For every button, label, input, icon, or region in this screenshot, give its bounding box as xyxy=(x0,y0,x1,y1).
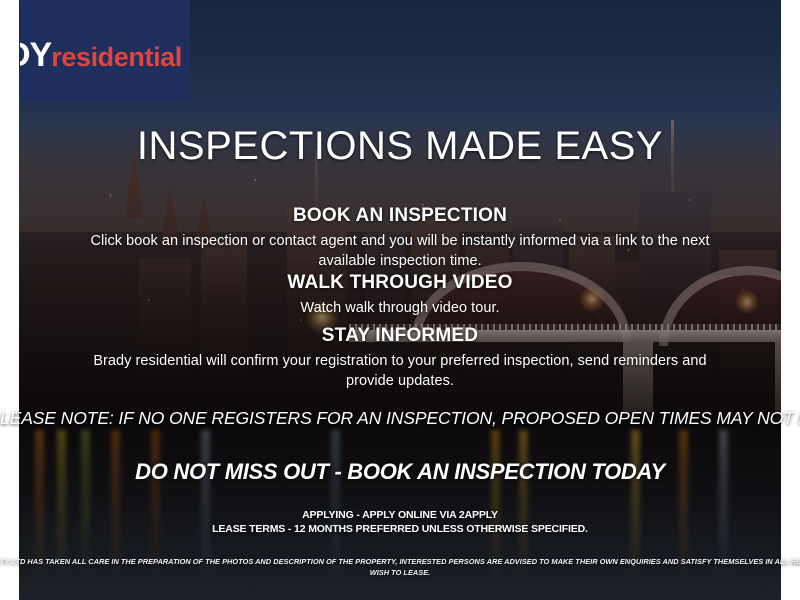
property-inspection-banner: DYresidential INSPECTIONS MADE EASY BOOK… xyxy=(0,0,800,600)
section-book-inspection: BOOK AN INSPECTION Click book an inspect… xyxy=(0,205,800,271)
section-title-inform: STAY INFORMED xyxy=(0,325,800,347)
section-body-inform: Brady residential will confirm your regi… xyxy=(0,351,800,391)
brand-subtitle: residential xyxy=(51,42,182,72)
disclaimer-line-1: TY LTD HAS TAKEN ALL CARE IN THE PREPARA… xyxy=(0,556,800,567)
terms-applying-line: APPLYING - APPLY ONLINE VIA 2APPLY xyxy=(0,508,800,522)
page-title: INSPECTIONS MADE EASY xyxy=(0,124,800,169)
please-note-notice: LEASE NOTE: IF NO ONE REGISTERS FOR AN I… xyxy=(0,408,800,429)
terms-lease-line: LEASE TERMS - 12 MONTHS PREFERRED UNLESS… xyxy=(0,522,800,536)
legal-disclaimer: TY LTD HAS TAKEN ALL CARE IN THE PREPARA… xyxy=(0,556,800,578)
call-to-action-text: DO NOT MISS OUT - BOOK AN INSPECTION TOD… xyxy=(0,459,800,485)
section-body-video: Watch walk through video tour. xyxy=(0,298,800,318)
brand-logo-text: DYresidential xyxy=(20,36,182,75)
disclaimer-line-2: WISH TO LEASE. xyxy=(0,567,800,578)
section-walk-through-video: WALK THROUGH VIDEO Watch walk through vi… xyxy=(0,272,800,318)
section-body-book: Click book an inspection or contact agen… xyxy=(0,231,800,271)
brand-logo[interactable]: DYresidential xyxy=(20,0,190,100)
section-title-video: WALK THROUGH VIDEO xyxy=(0,272,800,294)
brand-name: DY xyxy=(20,36,51,74)
section-title-book: BOOK AN INSPECTION xyxy=(0,205,800,227)
section-stay-informed: STAY INFORMED Brady residential will con… xyxy=(0,325,800,391)
terms-block: APPLYING - APPLY ONLINE VIA 2APPLY LEASE… xyxy=(0,508,800,537)
